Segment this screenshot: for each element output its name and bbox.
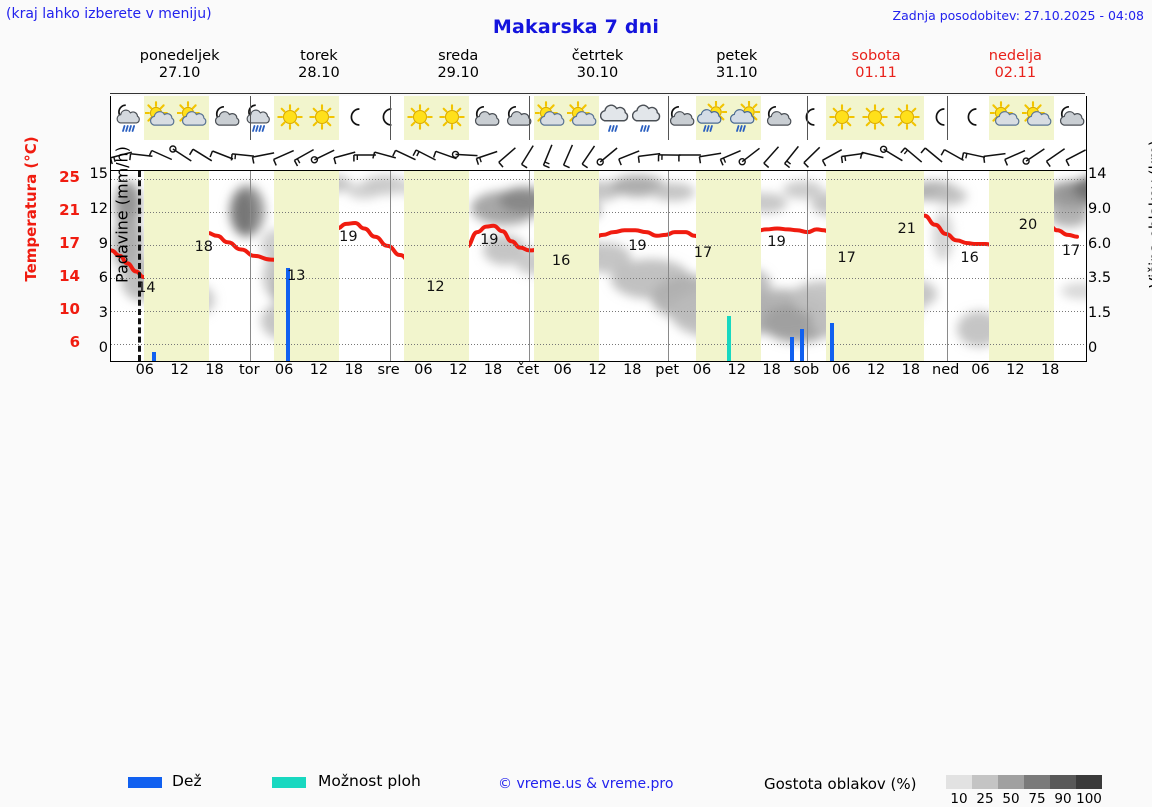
last-updated: Zadnja posodobitev: 27.10.2025 - 04:08 [893, 8, 1144, 23]
sun-cloud-icon [534, 96, 567, 140]
temperature-label: 12 [426, 279, 444, 295]
moon-cloud-icon [469, 96, 502, 140]
day-date: 28.10 [249, 65, 388, 82]
temperature-tick: 6 [36, 333, 80, 351]
day-name: četrtek [528, 48, 667, 65]
moon-icon [924, 96, 957, 140]
temperature-tick: 10 [36, 300, 80, 318]
time-tick: 12 [449, 362, 467, 378]
sun-icon [306, 96, 339, 140]
temperature-label: 13 [287, 268, 305, 284]
rain-bar [800, 329, 804, 361]
day-header-5: petek31.10 [667, 48, 806, 82]
day-separator [529, 96, 530, 140]
sun-icon [826, 96, 859, 140]
rain-bar [830, 323, 834, 361]
cloud-density-swatch [1024, 775, 1050, 789]
time-tick: 12 [170, 362, 188, 378]
showers-swatch [272, 777, 306, 788]
temperature-label: 21 [898, 221, 916, 237]
time-tick: tor [239, 362, 260, 378]
day-header-1: ponedeljek27.10 [110, 48, 249, 82]
cloud-density-swatch [972, 775, 998, 789]
time-tick: 12 [1006, 362, 1024, 378]
cloud-density-tick: 75 [1028, 791, 1045, 807]
time-tick: pet [655, 362, 679, 378]
day-date: 31.10 [667, 65, 806, 82]
cloud-density-swatch [946, 775, 972, 789]
time-tick: 18 [345, 362, 363, 378]
day-separator [250, 96, 251, 140]
cloud-density-swatch [1050, 775, 1076, 789]
sun-icon [891, 96, 924, 140]
day-header-2: torek28.10 [249, 48, 388, 82]
rain-legend-label: Dež [172, 772, 202, 790]
cloud-height-tick: 6.0 [1088, 236, 1122, 252]
daytime-band [274, 171, 339, 361]
day-header-7: nedelja02.11 [946, 48, 1085, 82]
sun-cloud-icon [144, 96, 177, 140]
day-separator [947, 96, 948, 140]
day-separator [807, 96, 808, 140]
time-tick: 18 [762, 362, 780, 378]
day-separator [668, 96, 669, 140]
precipitation-axis: 15129630 [80, 164, 108, 369]
day-header-3: sreda29.10 [389, 48, 528, 82]
temperature-tick: 17 [36, 234, 80, 252]
day-header-6: sobota01.11 [806, 48, 945, 82]
horizontal-gridline [111, 311, 1086, 312]
wind-barbs-svg [111, 140, 1086, 170]
sun-cloud-icon [989, 96, 1022, 140]
temperature-label: 17 [1062, 243, 1080, 259]
day-gridline [250, 171, 251, 361]
temperature-axis-label: Temperatura (°C) [22, 134, 40, 284]
temperature-curve [111, 171, 1086, 361]
precipitation-axis-label: Padavine (mm/h) [113, 125, 132, 305]
sun-icon [859, 96, 892, 140]
day-name: sobota [806, 48, 945, 65]
time-tick: sob [794, 362, 820, 378]
cloud-drizzle-icon [631, 96, 664, 140]
weather-icon-row [110, 96, 1087, 140]
day-header-4: četrtek30.10 [528, 48, 667, 82]
moon-icon [339, 96, 372, 140]
sun-cloud-drizzle-icon [729, 96, 762, 140]
time-axis: 061218tor061218sre061218čet061218pet0612… [110, 362, 1085, 382]
temperature-tick: 14 [36, 267, 80, 285]
time-tick: 12 [310, 362, 328, 378]
temperature-label: 16 [552, 253, 570, 269]
moon-icon [371, 96, 404, 140]
precipitation-tick: 3 [80, 305, 108, 321]
time-tick: 06 [414, 362, 432, 378]
cloud-density-tick: 90 [1054, 791, 1071, 807]
day-name: ponedeljek [110, 48, 249, 65]
temperature-label: 14 [137, 280, 155, 296]
precipitation-tick: 0 [80, 340, 108, 356]
time-tick: ned [932, 362, 959, 378]
day-separator [390, 96, 391, 140]
temperature-axis: 25211714106 [36, 164, 80, 369]
moon-cloud-icon [209, 96, 242, 140]
moon-icon [956, 96, 989, 140]
temperature-label: 17 [837, 250, 855, 266]
temperature-label: 19 [767, 234, 785, 250]
time-tick: 12 [588, 362, 606, 378]
day-name: torek [249, 48, 388, 65]
time-tick: 06 [275, 362, 293, 378]
cloud-height-tick: 3.5 [1088, 270, 1122, 286]
temperature-tick: 25 [36, 168, 80, 186]
time-tick: 18 [205, 362, 223, 378]
cloud-height-tick: 14 [1088, 166, 1122, 182]
day-gridline [668, 171, 669, 361]
horizontal-gridline [111, 344, 1086, 345]
moon-cloud-icon [761, 96, 794, 140]
cloud-density-legend-label: Gostota oblakov (%) [764, 775, 917, 793]
moon-cloud-icon [1054, 96, 1087, 140]
sun-cloud-icon [566, 96, 599, 140]
forecast-plot: 141813191219161917191721162017 [110, 170, 1087, 362]
time-tick: 06 [693, 362, 711, 378]
temperature-label: 19 [339, 229, 357, 245]
cloud-height-tick: 0 [1088, 340, 1122, 356]
time-tick: 12 [867, 362, 885, 378]
day-gridline [529, 171, 530, 361]
sun-cloud-drizzle-icon [696, 96, 729, 140]
sun-icon [274, 96, 307, 140]
rain-swatch [128, 777, 162, 788]
horizontal-gridline [111, 245, 1086, 246]
day-date: 27.10 [110, 65, 249, 82]
day-date: 30.10 [528, 65, 667, 82]
current-time-marker [138, 171, 141, 361]
showers-legend-label: Možnost ploh [318, 772, 421, 790]
day-date: 29.10 [389, 65, 528, 82]
cloud-height-axis-label: Višina oblakov (km) [1146, 119, 1152, 309]
cloud-drizzle-icon [599, 96, 632, 140]
time-tick: 06 [971, 362, 989, 378]
time-tick: 06 [832, 362, 850, 378]
horizontal-gridline [111, 179, 1086, 180]
time-tick: 18 [1041, 362, 1059, 378]
sun-cloud-icon [176, 96, 209, 140]
temperature-label: 18 [195, 239, 213, 255]
precipitation-tick: 9 [80, 236, 108, 252]
time-tick: 18 [484, 362, 502, 378]
daytime-band [144, 171, 209, 361]
cloud-density-swatch [1076, 775, 1102, 789]
daytime-band [404, 171, 469, 361]
day-date: 01.11 [806, 65, 945, 82]
rain-bar [790, 337, 794, 361]
cloud-density-tick: 100 [1076, 791, 1102, 807]
temperature-label: 19 [480, 232, 498, 248]
day-name: petek [667, 48, 806, 65]
time-tick: sre [378, 362, 400, 378]
day-header-rule [110, 93, 1085, 94]
rain-bar [152, 352, 156, 361]
precipitation-tick: 12 [80, 201, 108, 217]
time-tick: 18 [623, 362, 641, 378]
horizontal-gridline [111, 278, 1086, 279]
showers-bar [727, 316, 731, 361]
cloud-density-tick: 10 [950, 791, 967, 807]
time-tick: čet [517, 362, 540, 378]
moon-cloud-rain-icon [241, 96, 274, 140]
time-tick: 12 [728, 362, 746, 378]
sun-icon [436, 96, 469, 140]
day-date: 02.11 [946, 65, 1085, 82]
temperature-label: 19 [628, 238, 646, 254]
temperature-label: 16 [960, 250, 978, 266]
daytime-band [989, 171, 1054, 361]
day-name: sreda [389, 48, 528, 65]
cloud-height-axis: 149.06.03.51.50 [1088, 164, 1122, 369]
temperature-label: 17 [694, 245, 712, 261]
horizontal-gridline [111, 212, 1086, 213]
time-tick: 18 [902, 362, 920, 378]
sun-cloud-icon [1021, 96, 1054, 140]
legend: Dež Možnost ploh © vreme.us & vreme.pro … [0, 386, 1152, 436]
cloud-height-tick: 1.5 [1088, 305, 1122, 321]
cloud-density-swatch [998, 775, 1024, 789]
day-name: nedelja [946, 48, 1085, 65]
cloud-height-tick: 9.0 [1088, 201, 1122, 217]
day-gridline [390, 171, 391, 361]
moon-icon [794, 96, 827, 140]
precipitation-tick: 6 [80, 270, 108, 286]
day-gridline [807, 171, 808, 361]
time-tick: 06 [553, 362, 571, 378]
temperature-label: 20 [1019, 217, 1037, 233]
temperature-tick: 21 [36, 201, 80, 219]
time-tick: 06 [136, 362, 154, 378]
sun-icon [404, 96, 437, 140]
cloud-density-tick: 25 [976, 791, 993, 807]
day-gridline [947, 171, 948, 361]
cloud-density-tick: 50 [1002, 791, 1019, 807]
day-header-row: ponedeljek27.10torek28.10sreda29.10četrt… [110, 48, 1085, 92]
precipitation-tick: 15 [80, 166, 108, 182]
wind-barb-row [110, 140, 1087, 170]
copyright-link[interactable]: © vreme.us & vreme.pro [498, 776, 673, 792]
